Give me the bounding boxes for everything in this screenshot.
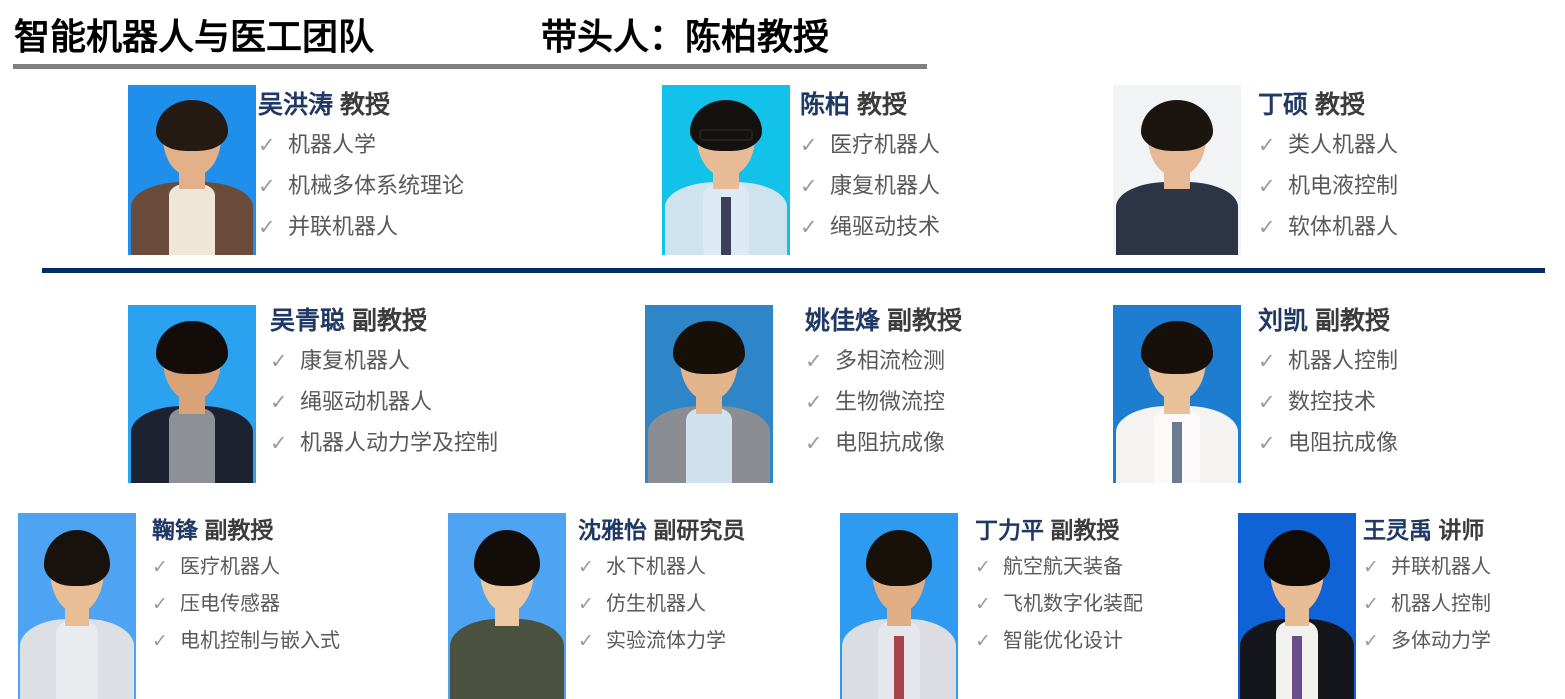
research-area-item: ✓医疗机器人 xyxy=(800,127,940,159)
research-area-label: 生物微流控 xyxy=(835,384,945,416)
research-area-item: ✓机器人控制 xyxy=(1363,587,1491,616)
research-area-item: ✓并联机器人 xyxy=(1363,550,1491,579)
research-area-item: ✓多相流检测 xyxy=(805,343,962,375)
person-title: 教授 xyxy=(333,91,390,119)
person-name-line: 刘凯 副教授 xyxy=(1258,308,1398,334)
person-title: 副教授 xyxy=(1044,517,1119,543)
check-icon: ✓ xyxy=(1363,630,1391,653)
check-icon: ✓ xyxy=(258,215,288,240)
person-title: 副教授 xyxy=(345,307,427,335)
research-area-list: ✓水下机器人✓仿生机器人✓实验流体力学 xyxy=(578,550,745,653)
check-icon: ✓ xyxy=(258,174,288,199)
research-area-item: ✓医疗机器人 xyxy=(152,550,340,579)
person-name-line: 王灵禹 讲师 xyxy=(1363,518,1491,542)
research-area-item: ✓生物微流控 xyxy=(805,384,962,416)
research-area-item: ✓电阻抗成像 xyxy=(805,425,962,457)
person-photo xyxy=(1113,85,1241,255)
research-area-item: ✓类人机器人 xyxy=(1258,127,1398,159)
research-area-item: ✓康复机器人 xyxy=(800,168,940,200)
research-area-label: 飞机数字化装配 xyxy=(1003,587,1143,616)
check-icon: ✓ xyxy=(270,349,300,374)
person-info: 吴洪涛 教授✓机器人学✓机械多体系统理论✓并联机器人 xyxy=(258,92,464,241)
research-area-label: 医疗机器人 xyxy=(180,550,280,579)
research-area-item: ✓航空航天装备 xyxy=(975,550,1143,579)
research-area-item: ✓飞机数字化装配 xyxy=(975,587,1143,616)
person-info: 陈柏 教授✓医疗机器人✓康复机器人✓绳驱动技术 xyxy=(800,92,940,241)
research-area-item: ✓机械多体系统理论 xyxy=(258,168,464,200)
photo-figure-shirt xyxy=(169,184,215,255)
research-area-label: 机器人学 xyxy=(288,127,376,159)
research-area-label: 机器人控制 xyxy=(1288,343,1398,375)
person-photo xyxy=(662,85,790,255)
check-icon: ✓ xyxy=(975,556,1003,579)
research-area-label: 机器人动力学及控制 xyxy=(300,425,498,457)
check-icon: ✓ xyxy=(1258,349,1288,374)
check-icon: ✓ xyxy=(1258,431,1288,456)
research-area-item: ✓电阻抗成像 xyxy=(1258,425,1398,457)
check-icon: ✓ xyxy=(800,215,830,240)
research-area-item: ✓水下机器人 xyxy=(578,550,745,579)
person-name-line: 陈柏 教授 xyxy=(800,92,940,118)
research-area-label: 智能优化设计 xyxy=(1003,624,1123,653)
person-photo xyxy=(1113,305,1241,483)
research-area-item: ✓机器人学 xyxy=(258,127,464,159)
check-icon: ✓ xyxy=(270,431,300,456)
research-area-list: ✓并联机器人✓机器人控制✓多体动力学 xyxy=(1363,550,1491,653)
research-area-item: ✓机器人动力学及控制 xyxy=(270,425,498,457)
research-area-label: 医疗机器人 xyxy=(830,127,940,159)
person-title: 讲师 xyxy=(1432,517,1484,543)
photo-figure-shirt xyxy=(1154,184,1200,255)
person-info: 丁力平 副教授✓航空航天装备✓飞机数字化装配✓智能优化设计 xyxy=(975,518,1143,653)
person-info: 吴青聪 副教授✓康复机器人✓绳驱动机器人✓机器人动力学及控制 xyxy=(270,308,498,457)
research-area-item: ✓多体动力学 xyxy=(1363,624,1491,653)
research-area-label: 机器人控制 xyxy=(1391,587,1491,616)
person-name-line: 沈雅怡 副研究员 xyxy=(578,518,745,542)
research-area-label: 电阻抗成像 xyxy=(1288,425,1398,457)
person-photo xyxy=(128,85,256,255)
check-icon: ✓ xyxy=(152,593,180,616)
person-name: 王灵禹 xyxy=(1363,517,1432,543)
check-icon: ✓ xyxy=(805,431,835,456)
research-area-item: ✓智能优化设计 xyxy=(975,624,1143,653)
research-area-label: 航空航天装备 xyxy=(1003,550,1123,579)
check-icon: ✓ xyxy=(800,174,830,199)
research-area-label: 绳驱动技术 xyxy=(830,209,940,241)
check-icon: ✓ xyxy=(805,390,835,415)
photo-figure-tie xyxy=(1172,422,1182,483)
check-icon: ✓ xyxy=(1258,215,1288,240)
person-photo xyxy=(1238,513,1356,699)
research-area-item: ✓软体机器人 xyxy=(1258,209,1398,241)
person-photo xyxy=(18,513,136,699)
person-name: 吴青聪 xyxy=(270,307,345,335)
research-area-label: 水下机器人 xyxy=(606,550,706,579)
research-area-item: ✓电机控制与嵌入式 xyxy=(152,624,340,653)
research-area-label: 电机控制与嵌入式 xyxy=(180,624,340,653)
person-info: 丁硕 教授✓类人机器人✓机电液控制✓软体机器人 xyxy=(1258,92,1398,241)
check-icon: ✓ xyxy=(578,556,606,579)
research-area-item: ✓数控技术 xyxy=(1258,384,1398,416)
research-area-label: 康复机器人 xyxy=(830,168,940,200)
research-area-list: ✓航空航天装备✓飞机数字化装配✓智能优化设计 xyxy=(975,550,1143,653)
photo-figure-shirt xyxy=(486,621,528,699)
person-photo xyxy=(840,513,958,699)
person-name-line: 丁硕 教授 xyxy=(1258,92,1398,118)
team-leader-label: 带头人：陈柏教授 xyxy=(541,8,829,60)
research-area-item: ✓实验流体力学 xyxy=(578,624,745,653)
research-area-label: 压电传感器 xyxy=(180,587,280,616)
person-name: 吴洪涛 xyxy=(258,91,333,119)
photo-figure-shirt xyxy=(686,408,732,483)
check-icon: ✓ xyxy=(1258,133,1288,158)
research-area-item: ✓绳驱动机器人 xyxy=(270,384,498,416)
person-title: 教授 xyxy=(1308,91,1365,119)
photo-figure-hair xyxy=(156,100,228,151)
research-area-label: 多相流检测 xyxy=(835,343,945,375)
research-area-item: ✓机电液控制 xyxy=(1258,168,1398,200)
research-area-label: 绳驱动机器人 xyxy=(300,384,432,416)
person-photo xyxy=(645,305,773,483)
check-icon: ✓ xyxy=(152,556,180,579)
person-name-line: 吴洪涛 教授 xyxy=(258,92,464,118)
check-icon: ✓ xyxy=(258,133,288,158)
person-name-line: 鞠锋 副教授 xyxy=(152,518,340,542)
check-icon: ✓ xyxy=(578,630,606,653)
person-name: 姚佳烽 xyxy=(805,307,880,335)
photo-figure-shirt xyxy=(56,621,98,699)
person-title: 副教授 xyxy=(198,517,273,543)
check-icon: ✓ xyxy=(1363,556,1391,579)
research-area-list: ✓多相流检测✓生物微流控✓电阻抗成像 xyxy=(805,343,962,457)
person-name: 陈柏 xyxy=(800,91,850,119)
research-area-label: 软体机器人 xyxy=(1288,209,1398,241)
person-name: 丁硕 xyxy=(1258,91,1308,119)
person-info: 王灵禹 讲师✓并联机器人✓机器人控制✓多体动力学 xyxy=(1363,518,1491,653)
research-area-label: 康复机器人 xyxy=(300,343,410,375)
check-icon: ✓ xyxy=(800,133,830,158)
research-area-label: 类人机器人 xyxy=(1288,127,1398,159)
photo-figure-tie xyxy=(894,636,903,699)
research-area-list: ✓医疗机器人✓康复机器人✓绳驱动技术 xyxy=(800,127,940,241)
person-name: 沈雅怡 xyxy=(578,517,647,543)
research-area-label: 电阻抗成像 xyxy=(835,425,945,457)
header-divider-gray xyxy=(13,64,927,69)
check-icon: ✓ xyxy=(975,593,1003,616)
page-title: 智能机器人与医工团队 xyxy=(14,8,374,60)
check-icon: ✓ xyxy=(1258,174,1288,199)
check-icon: ✓ xyxy=(975,630,1003,653)
photo-figure-hair xyxy=(1141,100,1213,151)
research-area-label: 数控技术 xyxy=(1288,384,1376,416)
check-icon: ✓ xyxy=(152,630,180,653)
person-name: 刘凯 xyxy=(1258,307,1308,335)
section-divider-navy xyxy=(42,268,1545,273)
photo-figure-tie xyxy=(1292,636,1301,699)
person-info: 刘凯 副教授✓机器人控制✓数控技术✓电阻抗成像 xyxy=(1258,308,1398,457)
person-name-line: 吴青聪 副教授 xyxy=(270,308,498,334)
person-name-line: 丁力平 副教授 xyxy=(975,518,1143,542)
research-area-item: ✓康复机器人 xyxy=(270,343,498,375)
check-icon: ✓ xyxy=(578,593,606,616)
research-area-item: ✓仿生机器人 xyxy=(578,587,745,616)
person-title: 副教授 xyxy=(1308,307,1390,335)
person-info: 沈雅怡 副研究员✓水下机器人✓仿生机器人✓实验流体力学 xyxy=(578,518,745,653)
research-area-list: ✓机器人控制✓数控技术✓电阻抗成像 xyxy=(1258,343,1398,457)
photo-figure-tie xyxy=(721,197,731,255)
research-area-list: ✓医疗机器人✓压电传感器✓电机控制与嵌入式 xyxy=(152,550,340,653)
research-area-label: 实验流体力学 xyxy=(606,624,726,653)
slide-root: 智能机器人与医工团队 带头人：陈柏教授 吴洪涛 教授✓机器人学✓机械多体系统理论… xyxy=(0,0,1565,699)
research-area-list: ✓机器人学✓机械多体系统理论✓并联机器人 xyxy=(258,127,464,241)
person-title: 副教授 xyxy=(880,307,962,335)
research-area-label: 仿生机器人 xyxy=(606,587,706,616)
person-name: 丁力平 xyxy=(975,517,1044,543)
research-area-item: ✓并联机器人 xyxy=(258,209,464,241)
photo-figure-glasses xyxy=(699,129,753,141)
research-area-label: 多体动力学 xyxy=(1391,624,1491,653)
research-area-label: 并联机器人 xyxy=(1391,550,1491,579)
person-title: 教授 xyxy=(850,91,907,119)
check-icon: ✓ xyxy=(805,349,835,374)
person-name: 鞠锋 xyxy=(152,517,198,543)
photo-figure-hair xyxy=(690,100,762,151)
check-icon: ✓ xyxy=(1363,593,1391,616)
person-info: 姚佳烽 副教授✓多相流检测✓生物微流控✓电阻抗成像 xyxy=(805,308,962,457)
check-icon: ✓ xyxy=(270,390,300,415)
research-area-label: 机电液控制 xyxy=(1288,168,1398,200)
research-area-label: 并联机器人 xyxy=(288,209,398,241)
person-name-line: 姚佳烽 副教授 xyxy=(805,308,962,334)
research-area-item: ✓压电传感器 xyxy=(152,587,340,616)
person-info: 鞠锋 副教授✓医疗机器人✓压电传感器✓电机控制与嵌入式 xyxy=(152,518,340,653)
person-photo xyxy=(448,513,566,699)
research-area-item: ✓机器人控制 xyxy=(1258,343,1398,375)
person-photo xyxy=(128,305,256,483)
person-title: 副研究员 xyxy=(647,517,745,543)
photo-figure-shirt xyxy=(169,408,215,483)
research-area-label: 机械多体系统理论 xyxy=(288,168,464,200)
check-icon: ✓ xyxy=(1258,390,1288,415)
research-area-list: ✓康复机器人✓绳驱动机器人✓机器人动力学及控制 xyxy=(270,343,498,457)
research-area-item: ✓绳驱动技术 xyxy=(800,209,940,241)
research-area-list: ✓类人机器人✓机电液控制✓软体机器人 xyxy=(1258,127,1398,241)
